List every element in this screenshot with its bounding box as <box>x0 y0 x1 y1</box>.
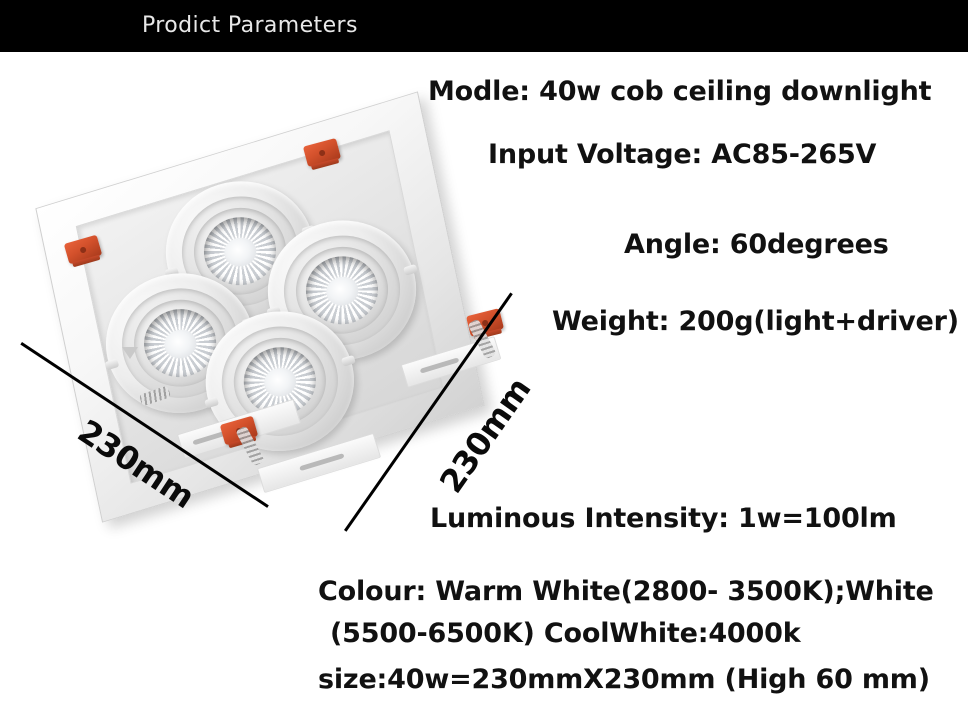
spec-weight: Weight: 200g(light+driver) <box>552 306 959 337</box>
corner-tab <box>122 347 138 359</box>
header-bar: Prodict Parameters <box>0 0 968 52</box>
spec-colour-continued: (5500-6500K) CoolWhite:4000k <box>330 618 800 649</box>
spec-size: size:40w=230mmX230mm (High 60 mm) <box>318 664 930 695</box>
mounting-slot <box>420 357 460 373</box>
spec-luminous-intensity: Luminous Intensity: 1w=100lm <box>430 503 897 534</box>
spec-input-voltage: Input Voltage: AC85-265V <box>488 139 876 170</box>
product-parameters-page: Prodict Parameters <box>0 0 968 711</box>
spec-model: Modle: 40w cob ceiling downlight <box>428 76 931 107</box>
mounting-slot <box>299 453 344 471</box>
spec-angle: Angle: 60degrees <box>624 229 889 260</box>
page-title: Prodict Parameters <box>142 13 358 38</box>
spec-colour: Colour: Warm White(2800- 3500K);White <box>318 576 934 607</box>
